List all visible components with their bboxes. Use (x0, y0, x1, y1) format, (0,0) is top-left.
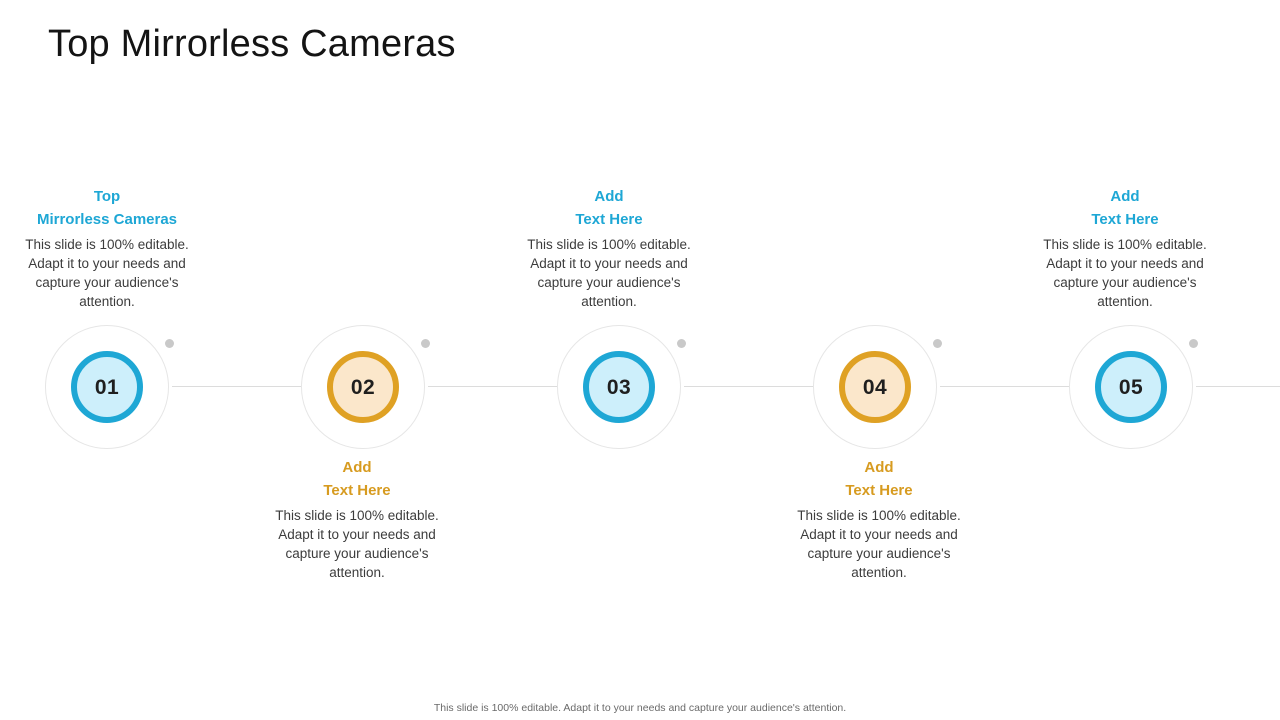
connector-segment-4-5 (940, 386, 1072, 387)
timeline-text-03: Add Text Here This slide is 100% editabl… (511, 185, 707, 311)
timeline-node-03[interactable]: 03 (557, 325, 681, 449)
node-number: 05 (1119, 377, 1143, 398)
item-heading: Add Text Here (511, 185, 707, 231)
node-badge: 03 (583, 351, 655, 423)
connector-segment-3-4 (684, 386, 816, 387)
timeline-node-05[interactable]: 05 (1069, 325, 1193, 449)
node-connector-dot (1189, 339, 1198, 348)
node-badge: 05 (1095, 351, 1167, 423)
item-heading: Top Mirrorless Cameras (9, 185, 205, 231)
node-connector-dot (421, 339, 430, 348)
node-number: 01 (95, 377, 119, 398)
node-badge: 01 (71, 351, 143, 423)
node-badge: 02 (327, 351, 399, 423)
node-connector-dot (165, 339, 174, 348)
node-number: 02 (351, 377, 375, 398)
item-heading: Add Text Here (781, 456, 977, 502)
node-number: 03 (607, 377, 631, 398)
node-number: 04 (863, 377, 887, 398)
timeline-text-01: Top Mirrorless Cameras This slide is 100… (9, 185, 205, 311)
node-badge: 04 (839, 351, 911, 423)
item-heading: Add Text Here (259, 456, 455, 502)
connector-segment-2-3 (428, 386, 560, 387)
item-body: This slide is 100% editable. Adapt it to… (1027, 235, 1223, 311)
item-body: This slide is 100% editable. Adapt it to… (511, 235, 707, 311)
connector-segment-5-end (1196, 386, 1280, 387)
timeline-node-02[interactable]: 02 (301, 325, 425, 449)
timeline-node-04[interactable]: 04 (813, 325, 937, 449)
node-connector-dot (677, 339, 686, 348)
item-body: This slide is 100% editable. Adapt it to… (9, 235, 205, 311)
timeline-node-01[interactable]: 01 (45, 325, 169, 449)
node-connector-dot (933, 339, 942, 348)
footer-note: This slide is 100% editable. Adapt it to… (0, 701, 1280, 715)
item-body: This slide is 100% editable. Adapt it to… (259, 506, 455, 582)
page-title: Top Mirrorless Cameras (48, 20, 456, 68)
timeline-text-04: Add Text Here This slide is 100% editabl… (781, 456, 977, 582)
connector-segment-1-2 (172, 386, 304, 387)
item-body: This slide is 100% editable. Adapt it to… (781, 506, 977, 582)
timeline-diagram: 01 Top Mirrorless Cameras This slide is … (0, 150, 1280, 620)
timeline-text-02: Add Text Here This slide is 100% editabl… (259, 456, 455, 582)
item-heading: Add Text Here (1027, 185, 1223, 231)
timeline-text-05: Add Text Here This slide is 100% editabl… (1027, 185, 1223, 311)
